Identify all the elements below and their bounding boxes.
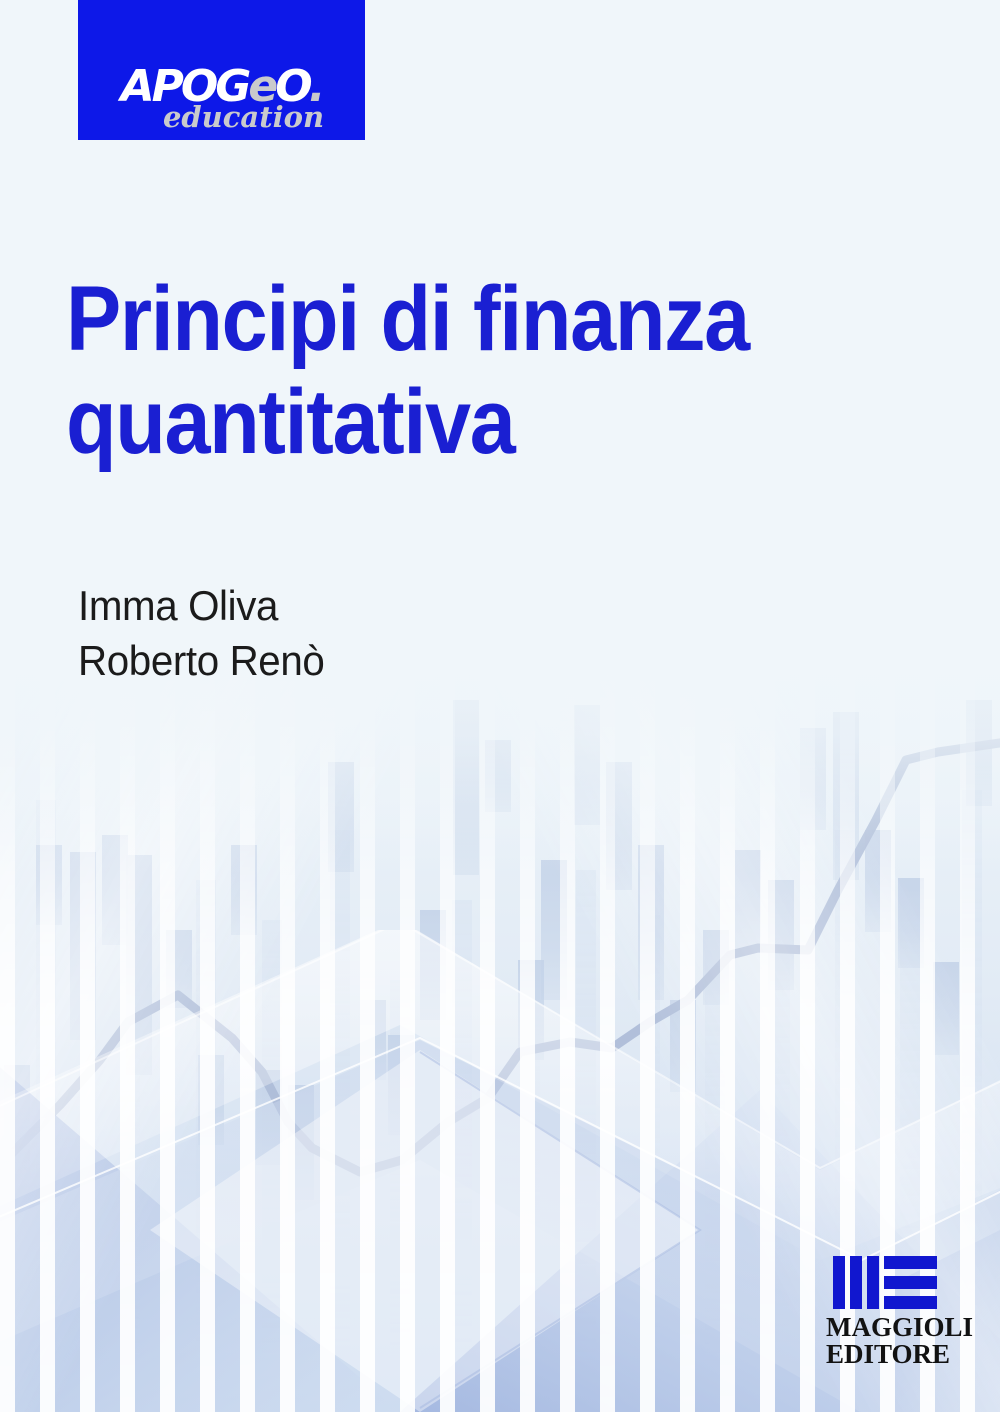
apogeo-education-logo: APOGeO. education	[78, 65, 365, 132]
author-name-1: Imma Oliva	[78, 578, 324, 633]
author-name-2: Roberto Renò	[78, 633, 324, 688]
me-bar-5	[884, 1276, 937, 1289]
me-bar-3	[867, 1256, 879, 1309]
me-bar-4	[884, 1256, 937, 1269]
title-line-1: Principi di finanza	[66, 268, 786, 371]
me-bar-1	[833, 1256, 845, 1309]
apogeo-imprint-box: APOGeO. education	[78, 0, 365, 140]
me-monogram-icon	[833, 1256, 937, 1309]
publisher-subtitle: EDITORE	[826, 1341, 944, 1368]
author-list: Imma Oliva Roberto Renò	[78, 578, 324, 689]
page-title: Principi di finanza quantitativa	[66, 268, 786, 474]
me-bar-6	[884, 1296, 937, 1309]
publisher-name: MAGGIOLI	[826, 1314, 944, 1341]
book-cover: APOGeO. education Principi di finanza qu…	[0, 0, 1000, 1412]
maggioli-editore-logo: MAGGIOLI EDITORE	[826, 1256, 944, 1368]
me-bar-2	[850, 1256, 862, 1309]
title-line-2: quantitativa	[66, 371, 786, 474]
vertical-stripes-overlay	[0, 0, 1000, 1412]
